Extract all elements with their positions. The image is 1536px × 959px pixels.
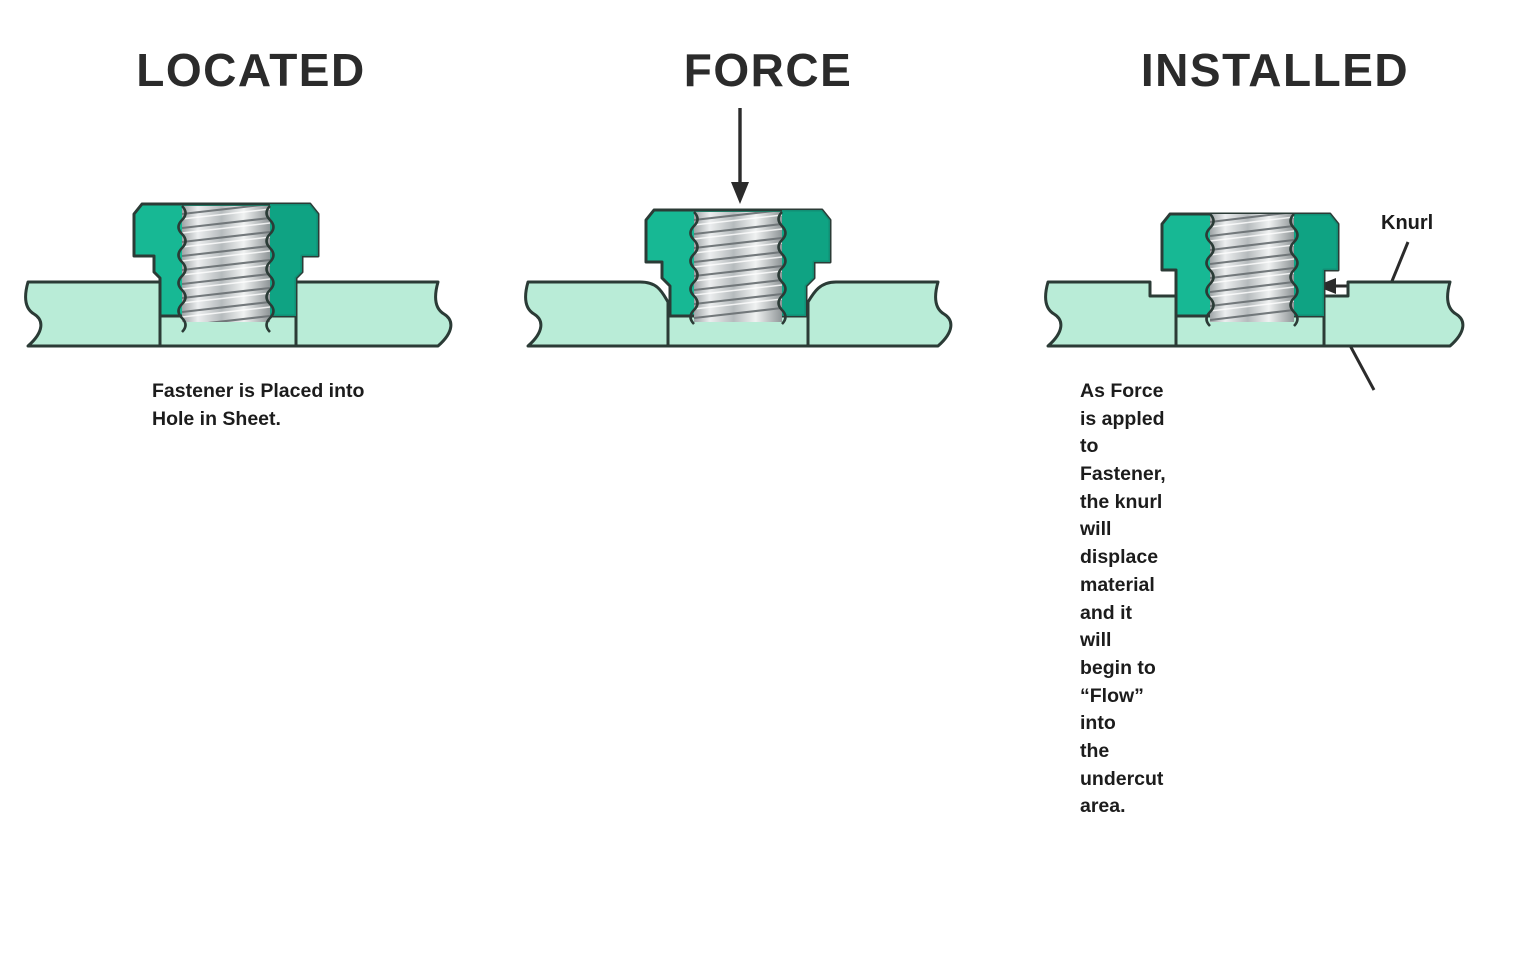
figure-force <box>512 170 1024 370</box>
sheet-right-knurl <box>808 282 951 346</box>
thread-bore <box>694 210 782 322</box>
fastener-installation-diagram: LOCATED <box>0 0 1536 582</box>
panel-installed: INSTALLED <box>1024 0 1536 582</box>
panel-title-located: LOCATED <box>0 47 512 93</box>
panel-title-installed: INSTALLED <box>1024 47 1536 93</box>
panel-located: LOCATED <box>0 0 512 582</box>
figure-installed <box>1024 170 1536 370</box>
sheet-left-filled <box>1046 282 1176 346</box>
thread-bore <box>182 204 270 326</box>
panel-title-force: FORCE <box>512 47 1024 93</box>
sheet-right-filled <box>1324 282 1463 346</box>
sheet-right <box>296 282 451 346</box>
sheet-left <box>526 282 668 346</box>
caption-located: Fastener is Placed into Hole in Sheet. <box>152 378 364 433</box>
figure-located <box>0 170 512 370</box>
thread-bore <box>1210 212 1294 322</box>
sheet-left <box>26 282 160 346</box>
panel-force: FORCE <box>512 0 1024 582</box>
